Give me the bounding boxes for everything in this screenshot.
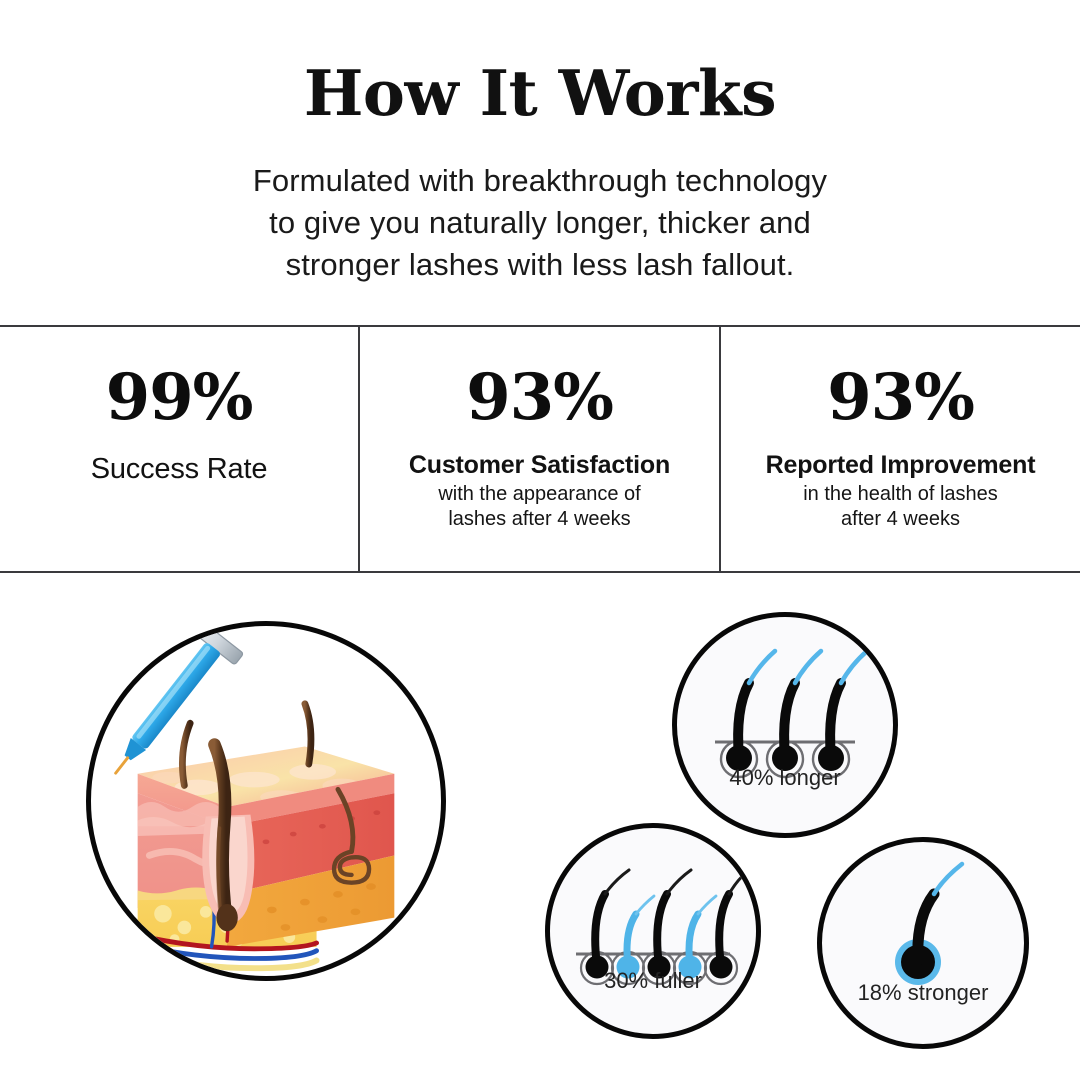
skin-cross-section-circle (86, 621, 446, 981)
subtitle-line-2: to give you naturally longer, thicker an… (0, 202, 1080, 244)
stat-cell-customer-satisfaction: 93% Customer Satisfaction with the appea… (358, 327, 719, 571)
benefit-circle-stronger: 18% stronger (817, 837, 1029, 1049)
subtitle-line-1: Formulated with breakthrough technology (0, 160, 1080, 202)
subtitle-line-3: stronger lashes with less lash fallout. (0, 244, 1080, 286)
stat-value: 99% (106, 365, 253, 431)
stat-sublabel-line-1: with the appearance of (438, 482, 640, 507)
stat-sublabel: with the appearance of lashes after 4 we… (438, 482, 640, 532)
hair-stronger-icon (822, 842, 1024, 1044)
hair-fuller-icon (550, 828, 756, 1034)
stat-label: Success Rate (91, 453, 268, 486)
stat-sublabel-line-2: after 4 weeks (803, 507, 998, 532)
page-subtitle: Formulated with breakthrough technology … (0, 160, 1080, 286)
skin-cross-section-illustration (91, 626, 441, 976)
benefit-caption-longer: 40% longer (677, 765, 893, 791)
hair-longer-icon (677, 617, 893, 833)
stat-value: 93% (827, 365, 974, 431)
stat-cell-success-rate: 99% Success Rate (0, 327, 358, 571)
visuals-section: 40% longer (0, 575, 1080, 1080)
benefit-caption-fuller: 30% fuller (550, 968, 756, 994)
stat-sublabel-line-2: lashes after 4 weeks (438, 507, 640, 532)
stat-sublabel: in the health of lashes after 4 weeks (803, 482, 998, 532)
benefit-circle-fuller: 30% fuller (545, 823, 761, 1039)
benefit-caption-stronger: 18% stronger (822, 980, 1024, 1006)
stat-sublabel-line-1: in the health of lashes (803, 482, 998, 507)
header-section: How It Works Formulated with breakthroug… (0, 0, 1080, 320)
stat-cell-reported-improvement: 93% Reported Improvement in the health o… (719, 327, 1080, 571)
stat-value: 93% (466, 365, 613, 431)
stat-label: Customer Satisfaction (409, 451, 670, 480)
stats-band: 99% Success Rate 93% Customer Satisfacti… (0, 325, 1080, 573)
stat-label: Reported Improvement (766, 451, 1036, 480)
benefit-circle-longer: 40% longer (672, 612, 898, 838)
page-title: How It Works (0, 62, 1080, 125)
